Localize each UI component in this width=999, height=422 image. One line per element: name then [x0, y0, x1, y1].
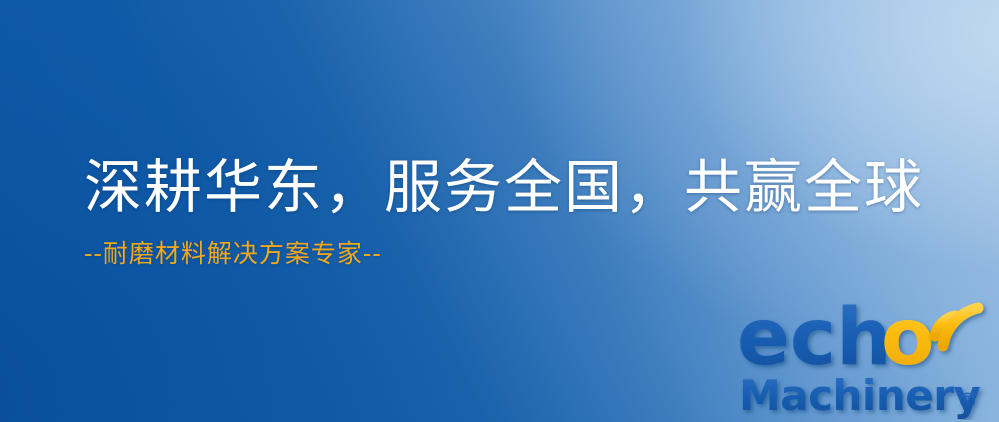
logo-brand-secondary: Machinery — [739, 371, 980, 420]
company-logo[interactable]: ech o Machinery ® — [735, 292, 993, 420]
wifi-arcs-icon — [935, 308, 978, 346]
logo-echo-text-group: ech — [737, 293, 892, 383]
logo-brand-accent-letter: o — [881, 293, 935, 383]
logo-accent-o-group: o — [881, 293, 935, 383]
logo-brand-primary: ech — [737, 293, 892, 383]
banner-text-block: 深耕华东，服务全国，共赢全球 --耐磨材料解决方案专家-- — [84, 150, 924, 270]
banner-subtitle: --耐磨材料解决方案专家-- — [84, 238, 924, 270]
hero-banner: 深耕华东，服务全国，共赢全球 --耐磨材料解决方案专家-- — [0, 0, 999, 422]
logo-machinery-group: Machinery ® — [739, 371, 980, 420]
banner-headline: 深耕华东，服务全国，共赢全球 — [84, 150, 924, 224]
logo-registered-mark: ® — [957, 389, 978, 413]
